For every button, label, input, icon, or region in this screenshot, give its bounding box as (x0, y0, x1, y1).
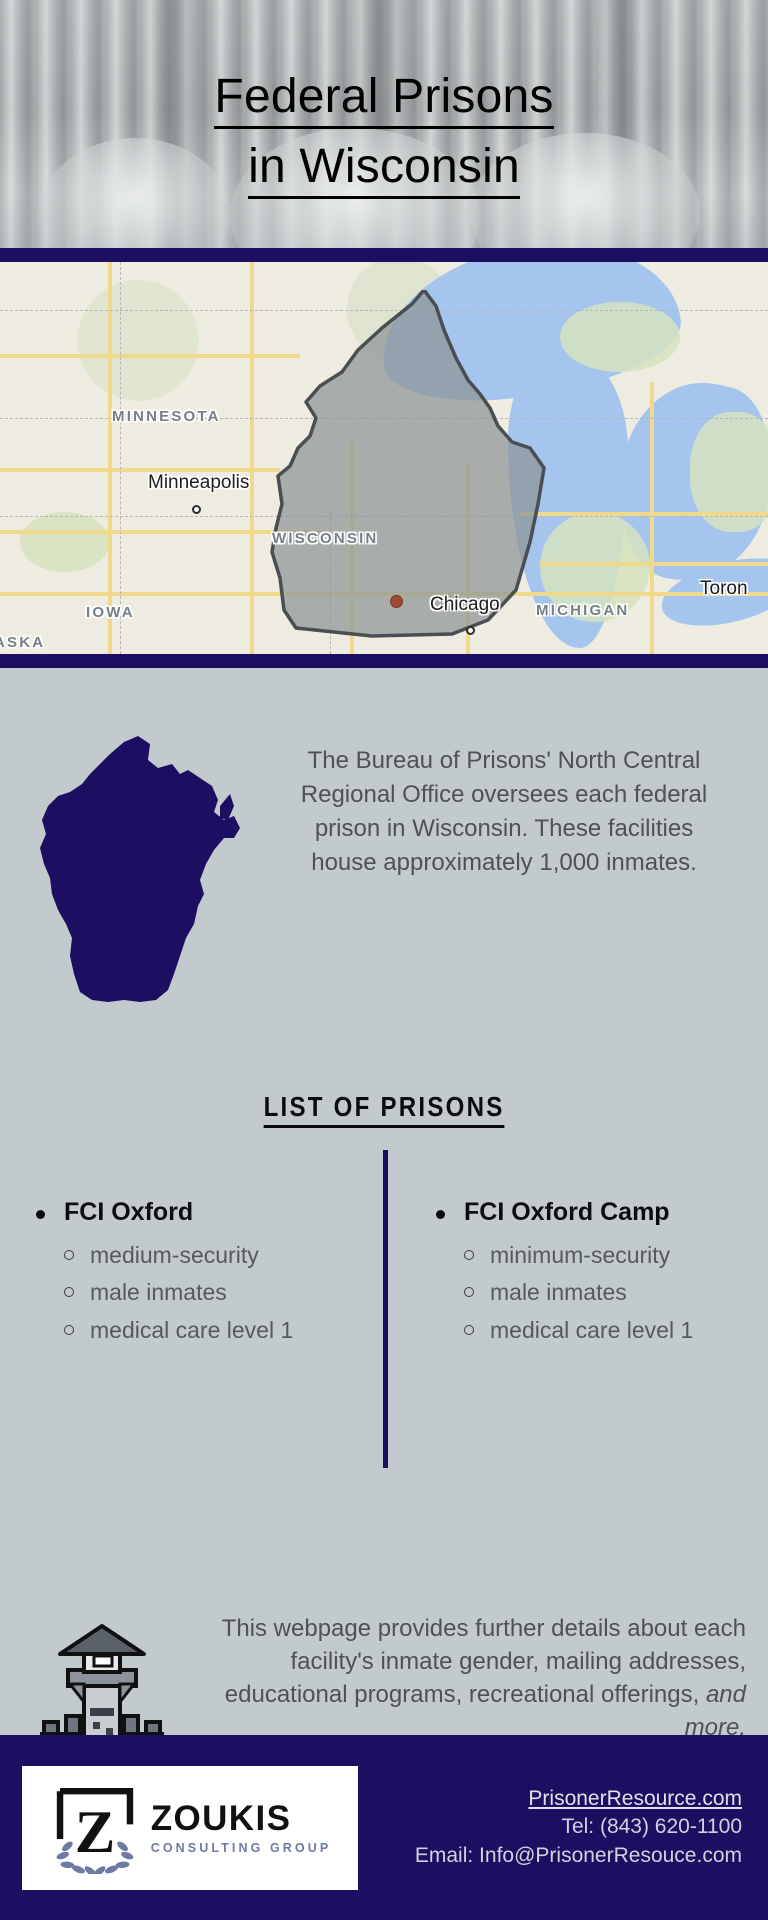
prison-name: FCI Oxford (22, 1198, 366, 1227)
map-label-iowa: IOWA (86, 604, 135, 621)
prison-entry: FCI Oxford Camp minimum-security male in… (422, 1198, 750, 1349)
prison-columns: FCI Oxford medium-security male inmates … (0, 1198, 768, 1518)
zoukis-logo-subtitle: CONSULTING GROUP (151, 1841, 332, 1855)
highway (0, 354, 300, 358)
navy-divider-top (0, 248, 768, 262)
footer-website-link[interactable]: PrisonerResource.com (374, 1785, 742, 1814)
map-label-minnesota: MINNESOTA (112, 408, 221, 425)
zoukis-logo-mark-icon: Z (49, 1782, 141, 1874)
zoukis-logo-wordmark: ZOUKIS CONSULTING GROUP (151, 1801, 332, 1855)
navy-divider-bottom (0, 654, 768, 668)
prison-attribute-list: minimum-security male inmates medical ca… (422, 1237, 750, 1349)
infographic-page: Federal Prisons in Wisconsin (0, 0, 768, 1920)
prison-attribute-list: medium-security male inmates medical car… (22, 1237, 366, 1349)
prison-attribute: minimum-security (490, 1237, 750, 1274)
city-dot-chicago (466, 626, 475, 635)
prison-attribute: medical care level 1 (90, 1312, 366, 1349)
intro-paragraph: The Bureau of Prisons' North Central Reg… (282, 728, 740, 880)
map-label-nebraska: ASKA (0, 634, 45, 651)
city-label-minneapolis: Minneapolis (148, 472, 249, 494)
prison-attribute: medium-security (90, 1237, 366, 1274)
city-dot-minneapolis (192, 505, 201, 514)
title-line-2: in Wisconsin (248, 141, 520, 199)
forest-area (20, 512, 110, 572)
prison-column-right: FCI Oxford Camp minimum-security male in… (384, 1198, 768, 1349)
list-heading-container: LIST OF PRISONS (0, 1091, 768, 1128)
list-of-prisons-heading: LIST OF PRISONS (264, 1091, 505, 1128)
prison-attribute: medical care level 1 (490, 1312, 750, 1349)
footer-email: Email: Info@PrisonerResouce.com (374, 1842, 742, 1871)
footer-phone: Tel: (843) 620-1100 (374, 1813, 742, 1842)
zoukis-logo-name: ZOUKIS (151, 1801, 292, 1836)
prison-attribute: male inmates (490, 1274, 750, 1311)
zoukis-logo: Z ZOUKIS CONSULTING GROUP (22, 1766, 358, 1890)
title-line-1: Federal Prisons (214, 71, 553, 129)
footer-bar: Z ZOUKIS CONSULTING GROUP (0, 1735, 768, 1920)
zoukis-logo-letter: Z (74, 1798, 115, 1865)
highway (540, 562, 768, 566)
wisconsin-state-silhouette (28, 728, 268, 1009)
prison-name: FCI Oxford Camp (422, 1198, 750, 1227)
prison-attribute: male inmates (90, 1274, 366, 1311)
intro-section: The Bureau of Prisons' North Central Reg… (0, 668, 768, 1009)
header-banner: Federal Prisons in Wisconsin (0, 0, 768, 248)
forest-area (560, 302, 680, 372)
city-label-chicago: Chicago (430, 594, 500, 616)
column-divider (383, 1150, 388, 1468)
footer-contact-block: PrisonerResource.com Tel: (843) 620-1100… (374, 1785, 746, 1871)
prison-entry: FCI Oxford medium-security male inmates … (22, 1198, 366, 1349)
closing-note-main: This webpage provides further details ab… (222, 1615, 746, 1708)
page-title: Federal Prisons in Wisconsin (0, 0, 768, 248)
closing-note-text: This webpage provides further details ab… (174, 1602, 746, 1744)
map-label-wisconsin: WISCONSIN (272, 530, 378, 547)
prison-column-left: FCI Oxford medium-security male inmates … (0, 1198, 384, 1349)
region-map-lower-labels: IOWA ASKA Chicago (0, 588, 768, 654)
